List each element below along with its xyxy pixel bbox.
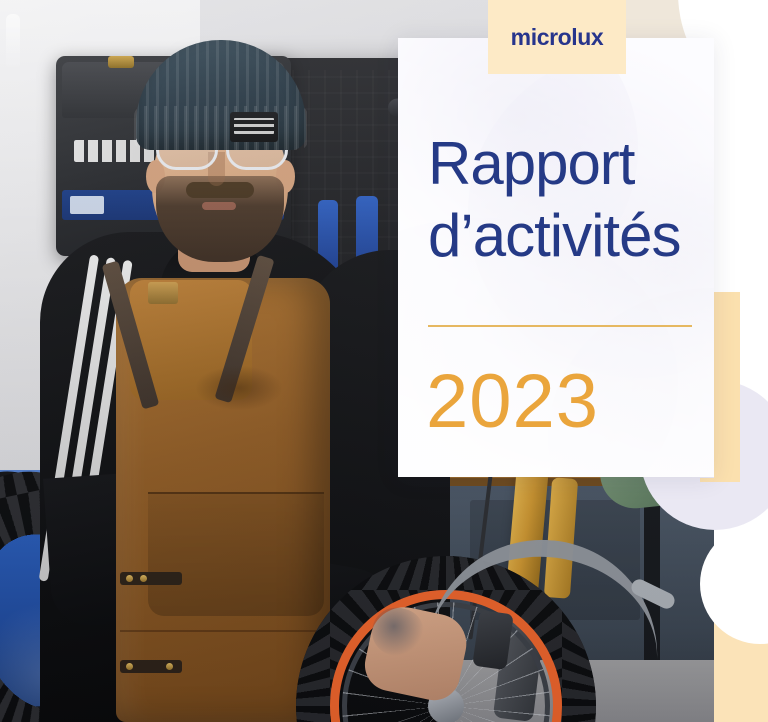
title-card: Rapport d’activités 2023	[398, 38, 714, 477]
page-title: Rapport d’activités	[428, 128, 698, 272]
report-year: 2023	[426, 360, 599, 444]
title-divider	[428, 325, 692, 327]
report-cover: Rapport d’activités 2023 microlux	[0, 0, 768, 722]
brand-logo-badge: microlux	[488, 0, 626, 74]
card-content: Rapport d’activités 2023	[398, 38, 714, 477]
watermark	[6, 14, 20, 70]
brand-logo-text: microlux	[511, 24, 604, 51]
